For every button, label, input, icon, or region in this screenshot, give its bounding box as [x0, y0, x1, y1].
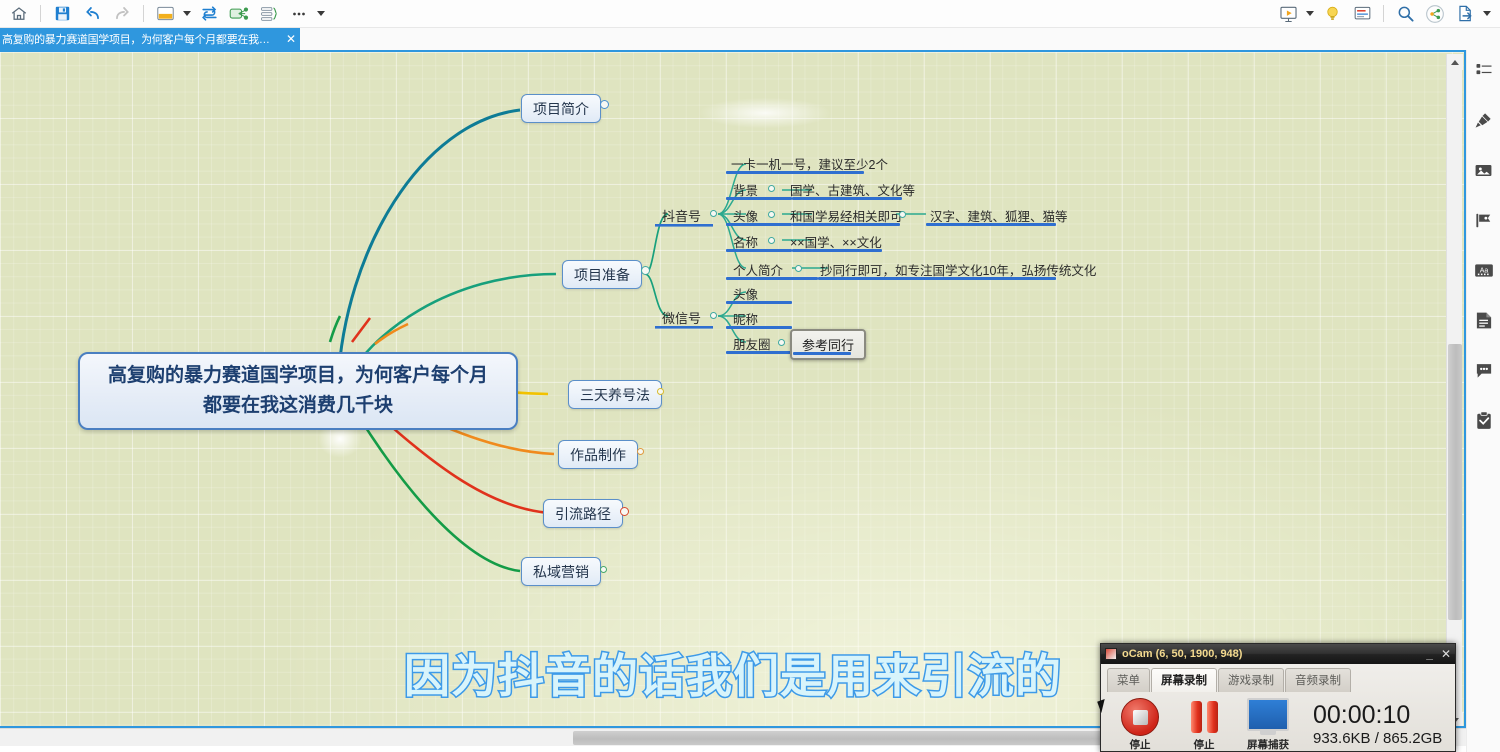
pause-record-button[interactable]: 停止	[1179, 698, 1229, 752]
document-tab[interactable]: 高复购的暴力赛道国学项目，为何客户每个月都要在我这消费几千块 ✕	[0, 28, 300, 50]
search-icon[interactable]	[1390, 1, 1420, 27]
branch-label: 三天养号法	[580, 385, 650, 405]
leaf-wechat-account[interactable]: 微信号	[662, 308, 701, 327]
pause-icon	[1191, 698, 1218, 736]
flag-icon[interactable]	[1470, 206, 1498, 234]
structure-icon[interactable]	[194, 1, 224, 27]
export-dropdown-caret[interactable]	[1480, 1, 1494, 27]
note-icon[interactable]	[1470, 306, 1498, 334]
collapse-dot-avatar-sub[interactable]	[899, 211, 906, 218]
collapse-dot-project-prep[interactable]	[641, 266, 650, 275]
right-rail: Aa	[1466, 50, 1500, 752]
branch-label: 项目准备	[574, 265, 630, 285]
branch-label: 作品制作	[570, 445, 626, 465]
branch-node-content-production[interactable]: 作品制作	[558, 440, 638, 469]
expand-dot-traffic-path[interactable]	[620, 507, 629, 516]
leaf-underline	[726, 171, 864, 174]
save-icon[interactable]	[47, 1, 77, 27]
text-style-icon[interactable]: Aa	[1470, 256, 1498, 284]
more-icon[interactable]	[284, 1, 314, 27]
stop-record-label: 停止	[1130, 737, 1151, 752]
stop-icon	[1121, 698, 1159, 736]
pause-record-label: 停止	[1194, 737, 1215, 752]
outline-icon[interactable]	[1470, 56, 1498, 84]
branch-label: 引流路径	[555, 504, 611, 524]
brush-icon[interactable]	[1470, 106, 1498, 134]
summary-icon[interactable]	[254, 1, 284, 27]
ocam-window[interactable]: oCam (6, 50, 1900, 948) _ ✕ 菜单 屏幕录制 游戏录制…	[1100, 643, 1456, 752]
recording-size: 933.6KB / 865.2GB	[1313, 729, 1442, 748]
tab-game-record[interactable]: 游戏录制	[1218, 668, 1284, 692]
ocam-body: 菜单 屏幕录制 游戏录制 音频录制 停止 停止 屏幕捕获 00:00:10 93…	[1101, 664, 1455, 752]
collapse-dot-moments[interactable]	[778, 339, 785, 346]
ocam-app-icon	[1105, 648, 1117, 660]
expand-dot-three-day-method[interactable]	[657, 388, 664, 395]
close-icon[interactable]: ✕	[286, 32, 296, 46]
leaf-underline	[726, 326, 792, 329]
leaf-douyin-account[interactable]: 抖音号	[662, 206, 701, 225]
root-line-1: 高复购的暴力赛道国学项目，为何客户每个月	[108, 361, 488, 391]
scroll-up-arrow-icon[interactable]	[1447, 54, 1463, 70]
leaf-underline	[792, 223, 900, 226]
leaf-underline	[726, 277, 818, 280]
ocam-titlebar[interactable]: oCam (6, 50, 1900, 948) _ ✕	[1101, 644, 1455, 664]
branch-node-project-prep[interactable]: 项目准备	[562, 260, 642, 289]
home-icon[interactable]	[4, 1, 34, 27]
share-icon[interactable]	[1420, 1, 1450, 27]
export-icon[interactable]	[1450, 1, 1480, 27]
expand-dot-private-domain[interactable]	[600, 566, 607, 573]
collapse-dot-name[interactable]	[768, 237, 775, 244]
leaf-underline	[792, 197, 902, 200]
redo-icon[interactable]	[107, 1, 137, 27]
toolbar-divider	[40, 5, 41, 22]
tab-strip: 高复购的暴力赛道国学项目，为何客户每个月都要在我这消费几千块 ✕	[0, 28, 1500, 50]
tab-audio-record[interactable]: 音频录制	[1285, 668, 1351, 692]
stop-record-button[interactable]: 停止	[1115, 698, 1165, 752]
ocam-controls: 停止 停止 屏幕捕获 00:00:10 933.6KB / 865.2GB	[1101, 692, 1455, 752]
leaf-underline	[726, 223, 792, 226]
image-icon[interactable]	[1470, 156, 1498, 184]
expand-dot-project-intro[interactable]	[600, 100, 609, 109]
toolbar-divider	[1383, 5, 1384, 22]
collapse-dot-background[interactable]	[768, 185, 775, 192]
comment-icon[interactable]	[1470, 356, 1498, 384]
document-tab-label: 高复购的暴力赛道国学项目，为何客户每个月都要在我这消费几千块	[2, 31, 280, 47]
branch-node-project-intro[interactable]: 项目简介	[521, 94, 601, 123]
recording-time: 00:00:10	[1313, 702, 1442, 729]
toolbar-right-group	[1273, 1, 1500, 27]
collapse-dot-douyin[interactable]	[710, 210, 717, 217]
root-line-2: 都要在我这消费几千块	[203, 391, 393, 421]
collapse-dot-avatar[interactable]	[768, 211, 775, 218]
screen-capture-button[interactable]: 屏幕捕获	[1243, 698, 1293, 752]
presentation-dropdown-caret[interactable]	[1303, 1, 1317, 27]
branch-label: 私域营销	[533, 562, 589, 582]
leaf-underline	[726, 197, 792, 200]
close-icon[interactable]: ✕	[1441, 649, 1451, 659]
relation-icon[interactable]	[224, 1, 254, 27]
branch-node-private-domain[interactable]: 私域营销	[521, 557, 601, 586]
task-icon[interactable]	[1470, 406, 1498, 434]
vertical-scrollbar-thumb[interactable]	[1448, 344, 1462, 620]
collapse-dot-bio[interactable]	[795, 265, 802, 272]
ocam-readout: 00:00:10 933.6KB / 865.2GB	[1313, 702, 1442, 748]
toolbar-left-group	[0, 1, 328, 27]
minimize-icon[interactable]: _	[1426, 649, 1433, 659]
ocam-tabs: 菜单 屏幕录制 游戏录制 音频录制	[1101, 664, 1455, 692]
expand-dot-content-production[interactable]	[637, 448, 644, 455]
branch-label: 项目简介	[533, 99, 589, 119]
selected-node-reference-peers[interactable]: 参考同行	[790, 329, 866, 360]
screen-capture-label: 屏幕捕获	[1247, 737, 1289, 752]
leaf-underline	[926, 223, 1056, 226]
ocam-window-buttons: _ ✕	[1426, 649, 1451, 659]
layout-icon[interactable]	[150, 1, 180, 27]
svg-text:Aa: Aa	[1479, 267, 1488, 274]
theme-icon[interactable]	[1347, 1, 1377, 27]
leaf-underline	[792, 249, 882, 252]
vertical-scrollbar[interactable]	[1446, 54, 1462, 728]
presentation-icon[interactable]	[1273, 1, 1303, 27]
leaf-underline	[793, 352, 851, 355]
root-node[interactable]: 高复购的暴力赛道国学项目，为何客户每个月 都要在我这消费几千块	[78, 352, 518, 430]
layout-dropdown-caret[interactable]	[180, 1, 194, 27]
monitor-icon	[1247, 698, 1289, 731]
tab-screen-record[interactable]: 屏幕录制	[1151, 668, 1217, 692]
tab-menu[interactable]: 菜单	[1107, 668, 1150, 692]
mindmap-canvas-frame: 高复购的暴力赛道国学项目，为何客户每个月 都要在我这消费几千块 项目简介 项目准…	[0, 50, 1466, 728]
leaf-underline	[726, 301, 792, 304]
more-dropdown-caret[interactable]	[314, 1, 328, 27]
branch-node-traffic-path[interactable]: 引流路径	[543, 499, 623, 528]
collapse-dot-wechat[interactable]	[710, 312, 717, 319]
leaf-underline	[726, 249, 792, 252]
toolbar-divider	[143, 5, 144, 22]
leaf-underline	[818, 277, 1056, 280]
undo-icon[interactable]	[77, 1, 107, 27]
branch-node-three-day-method[interactable]: 三天养号法	[568, 380, 662, 409]
main-toolbar	[0, 0, 1500, 28]
leaf-underline	[726, 351, 792, 354]
bulb-icon[interactable]	[1317, 1, 1347, 27]
ocam-title-text: oCam (6, 50, 1900, 948)	[1122, 648, 1242, 660]
